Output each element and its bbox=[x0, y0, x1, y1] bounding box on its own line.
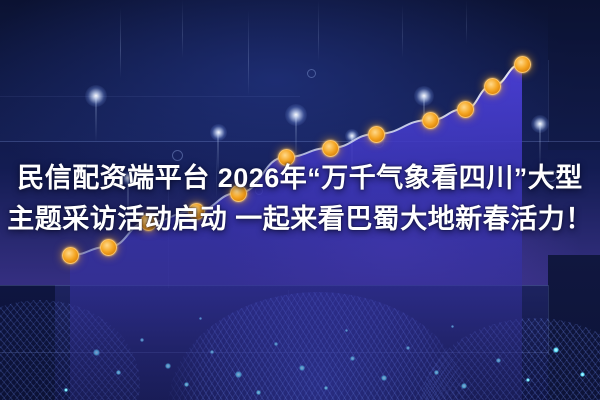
chart-data-point bbox=[368, 126, 385, 143]
chart-data-point bbox=[62, 247, 79, 264]
headline-line-2: 主题采访活动启动 一起来看巴蜀大地新春活力！ bbox=[0, 199, 600, 240]
chart-data-point bbox=[100, 239, 117, 256]
chart-data-point bbox=[457, 101, 474, 118]
chart-data-point bbox=[322, 140, 339, 157]
banner-headline: 民信配资端平台 2026年“万千气象看四川”大型 主题采访活动启动 一起来看巴蜀… bbox=[0, 158, 600, 240]
banner-image: 民信配资端平台 2026年“万千气象看四川”大型 主题采访活动启动 一起来看巴蜀… bbox=[0, 0, 600, 400]
chart-data-point bbox=[422, 112, 439, 129]
headline-line-1: 民信配资端平台 2026年“万千气象看四川”大型 bbox=[0, 158, 600, 199]
chart-data-point bbox=[484, 78, 501, 95]
chart-data-point bbox=[514, 56, 531, 73]
